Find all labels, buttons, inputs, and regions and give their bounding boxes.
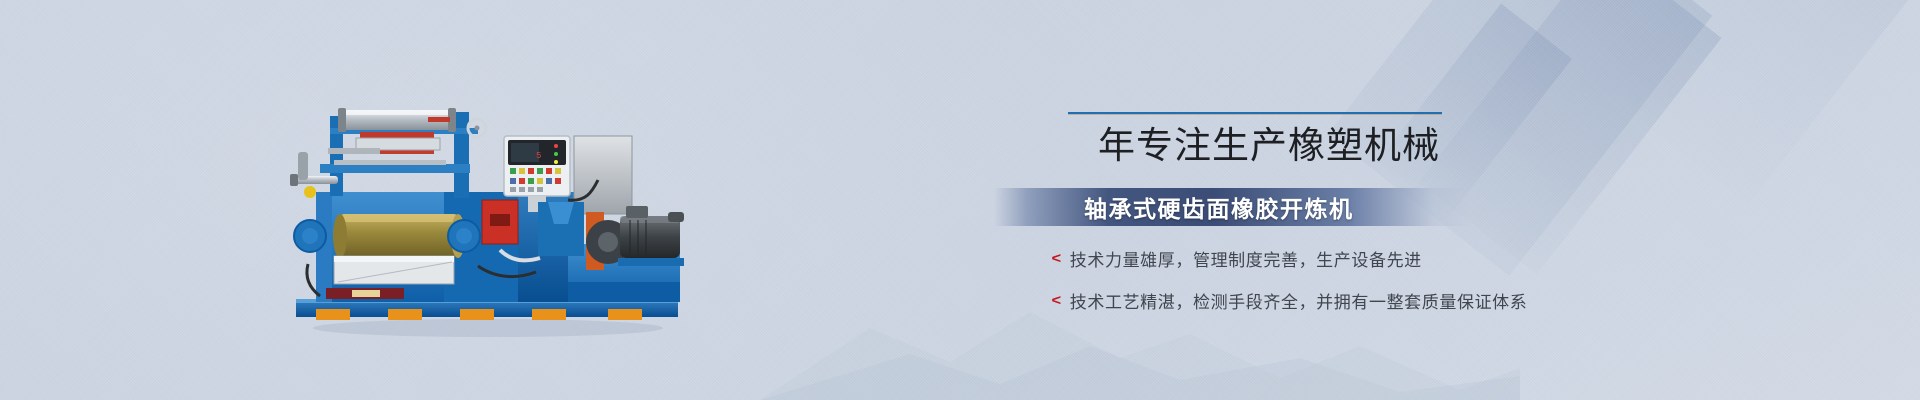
banner-content: 年专注生产橡塑机械 轴承式硬齿面橡胶开炼机 < 技术力量雄厚，管理制度完善，生产…: [1066, 112, 1626, 168]
subtitle-text: 轴承式硬齿面橡胶开炼机: [1084, 190, 1354, 224]
promo-banner: 5: [0, 0, 1920, 400]
headline-divider: [1068, 112, 1442, 115]
chevron-left-icon: <: [1052, 293, 1062, 308]
list-item-label: 技术力量雄厚，管理制度完善，生产设备先进: [1070, 246, 1422, 271]
list-item-label: 技术工艺精湛，检测手段齐全，并拥有一整套质量保证体系: [1070, 288, 1528, 313]
svg-text:5: 5: [536, 151, 541, 161]
diagonal-shape-3: [1378, 3, 1572, 216]
page-title: 年专注生产橡塑机械: [1066, 127, 1440, 168]
diagonal-shape-4: [1512, 0, 1908, 205]
list-item: < 技术工艺精湛，检测手段齐全，并拥有一整套质量保证体系: [1052, 288, 1527, 313]
list-item: < 技术力量雄厚，管理制度完善，生产设备先进: [1052, 246, 1527, 271]
feature-list: < 技术力量雄厚，管理制度完善，生产设备先进 < 技术工艺精湛，检测手段齐全，并…: [1052, 246, 1527, 330]
chevron-left-icon: <: [1052, 251, 1062, 266]
product-image: 5: [268, 96, 708, 346]
subtitle-bar: 轴承式硬齿面橡胶开炼机: [994, 188, 1472, 226]
